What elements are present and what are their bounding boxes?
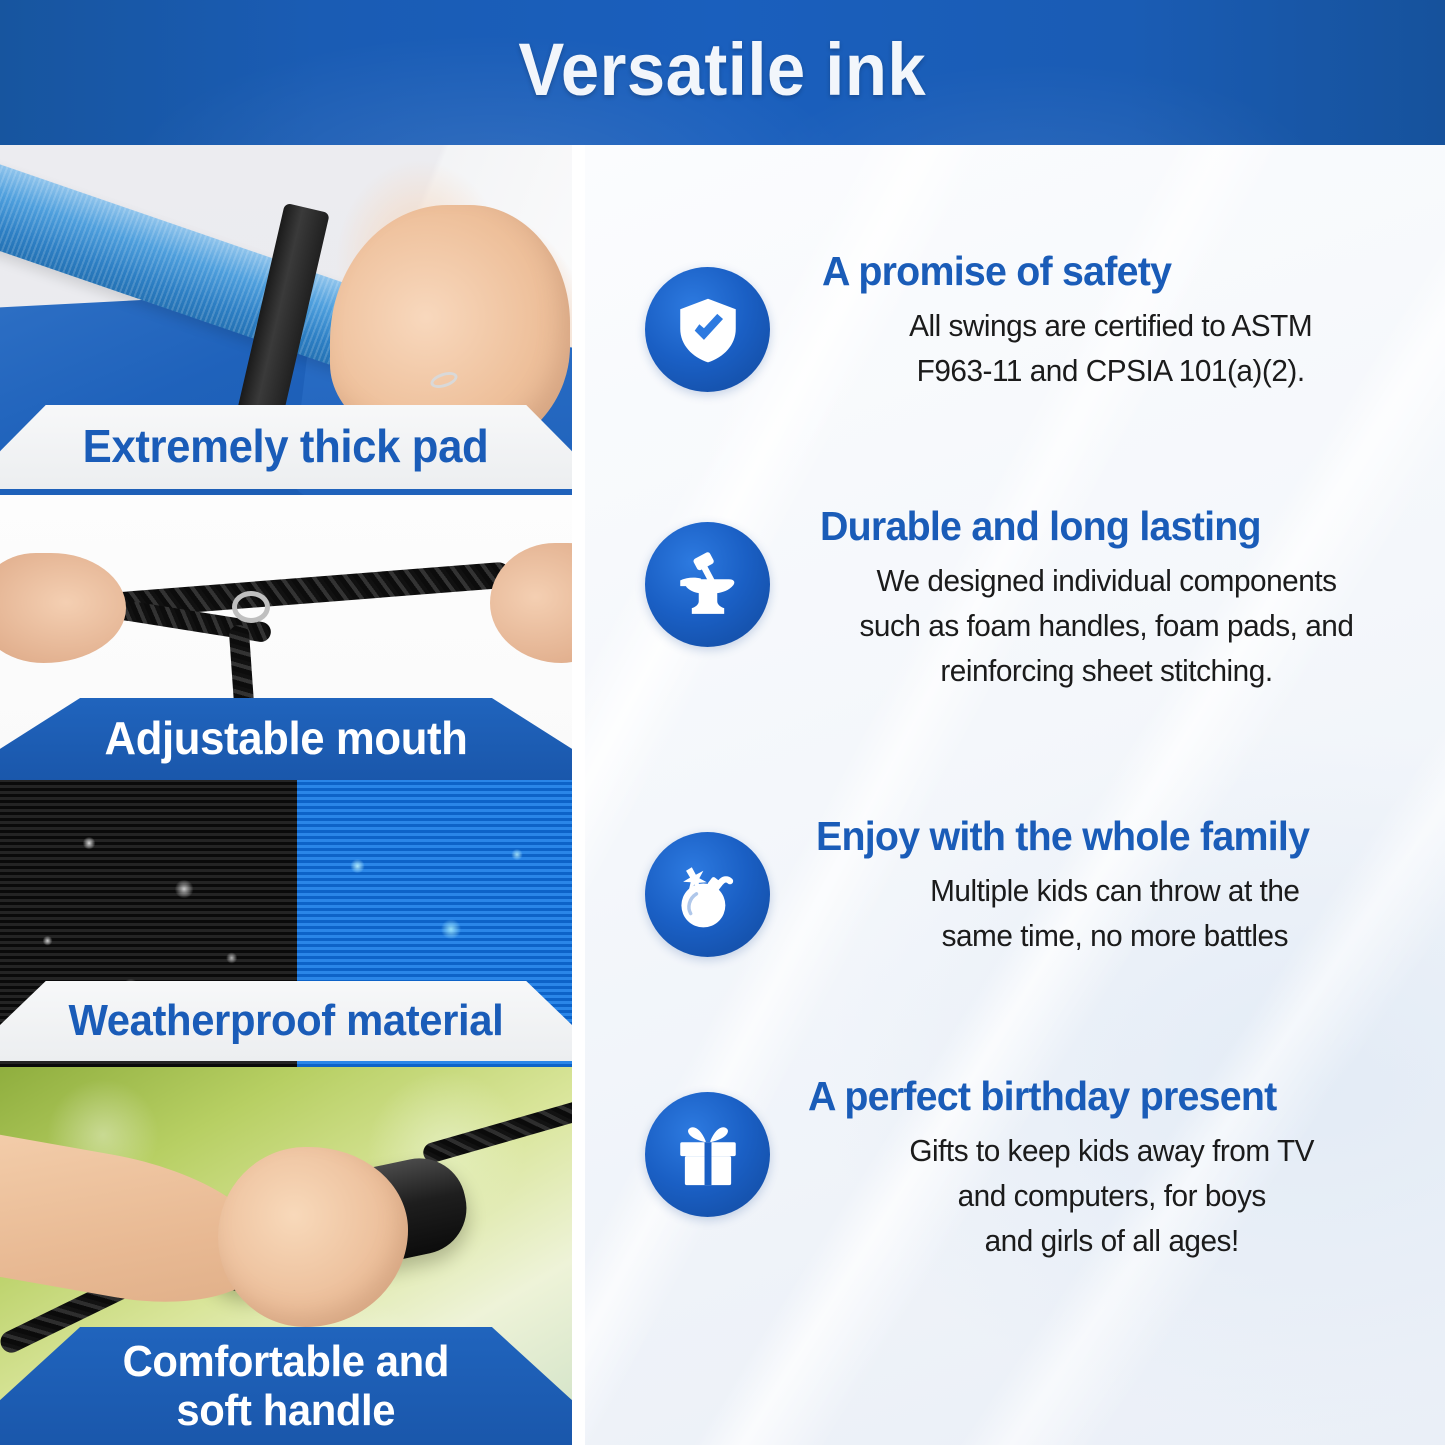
feature-body-line: We designed individual components (794, 559, 1419, 604)
feature-body: We designed individual components such a… (794, 559, 1419, 694)
feature-title: A perfect birthday present (808, 1074, 1420, 1119)
thick-pad-photo: Extremely thick pad (0, 145, 572, 495)
feature-body: Gifts to keep kids away from TV and comp… (804, 1129, 1419, 1264)
photo-caption-line-2: soft handle (177, 1386, 396, 1435)
feature-text: Enjoy with the whole family Multiple kid… (770, 810, 1445, 959)
feature-durable-long-lasting: Durable and long lasting We designed ind… (585, 500, 1445, 694)
feature-promise-of-safety: A promise of safety All swings are certi… (585, 245, 1445, 394)
child-fist (218, 1147, 408, 1327)
features-panel: A promise of safety All swings are certi… (585, 145, 1445, 1445)
photo-caption-label: Adjustable mouth (105, 713, 468, 765)
photo-caption-label: Extremely thick pad (83, 421, 489, 473)
feature-body-line: All swings are certified to ASTM (802, 304, 1419, 349)
photo-caption-label: Comfortable and soft handle (123, 1337, 449, 1436)
feature-body-line: reinforcing sheet stitching. (794, 649, 1419, 694)
feature-text: Durable and long lasting We designed ind… (770, 500, 1445, 694)
right-hand (490, 543, 572, 663)
photo-caption: Extremely thick pad (0, 405, 572, 489)
photo-caption: Comfortable and soft handle (0, 1327, 572, 1445)
photo-caption-label: Weatherproof material (69, 996, 504, 1045)
feature-title: Enjoy with the whole family (816, 814, 1420, 859)
feature-body-line: such as foam handles, foam pads, and (794, 604, 1419, 649)
feature-text: A promise of safety All swings are certi… (770, 245, 1445, 394)
feature-body-line: same time, no more battles (810, 914, 1420, 959)
photo-caption-line-1: Comfortable and (123, 1337, 449, 1386)
feature-body-line: and girls of all ages! (804, 1219, 1419, 1264)
anvil-hammer-icon (645, 522, 770, 647)
feature-title: A promise of safety (822, 249, 1420, 294)
shield-check-icon (645, 267, 770, 392)
rope-right (421, 1093, 572, 1165)
weatherproof-material-photo: Weatherproof material (0, 780, 572, 1067)
rope-loop (232, 591, 270, 623)
photo-caption: Adjustable mouth (0, 698, 572, 780)
page-title: Versatile ink (519, 33, 927, 113)
feature-body-line: Multiple kids can throw at the (810, 869, 1420, 914)
feature-body-line: Gifts to keep kids away from TV (804, 1129, 1419, 1174)
photo-column: Extremely thick pad Adjustable mouth (0, 145, 572, 1445)
adjustable-mouth-photo: Adjustable mouth (0, 495, 572, 780)
feature-whole-family: Enjoy with the whole family Multiple kid… (585, 810, 1445, 959)
feature-title: Durable and long lasting (820, 504, 1420, 549)
feature-birthday-present: A perfect birthday present Gifts to keep… (585, 1070, 1445, 1264)
soft-handle-photo: Comfortable and soft handle (0, 1067, 572, 1445)
feature-body-line: F963-11 and CPSIA 101(a)(2). (802, 349, 1419, 394)
feature-body: Multiple kids can throw at the same time… (810, 869, 1420, 959)
gift-icon (645, 1092, 770, 1217)
photo-caption: Weatherproof material (0, 981, 572, 1061)
infographic-page: Versatile ink Extremely thick pad (0, 0, 1445, 1445)
page-header: Versatile ink (0, 0, 1445, 145)
feature-text: A perfect birthday present Gifts to keep… (770, 1070, 1445, 1264)
bomb-icon (645, 832, 770, 957)
feature-body-line: and computers, for boys (804, 1174, 1419, 1219)
left-hand (0, 553, 126, 663)
feature-body: All swings are certified to ASTM F963-11… (802, 304, 1419, 394)
